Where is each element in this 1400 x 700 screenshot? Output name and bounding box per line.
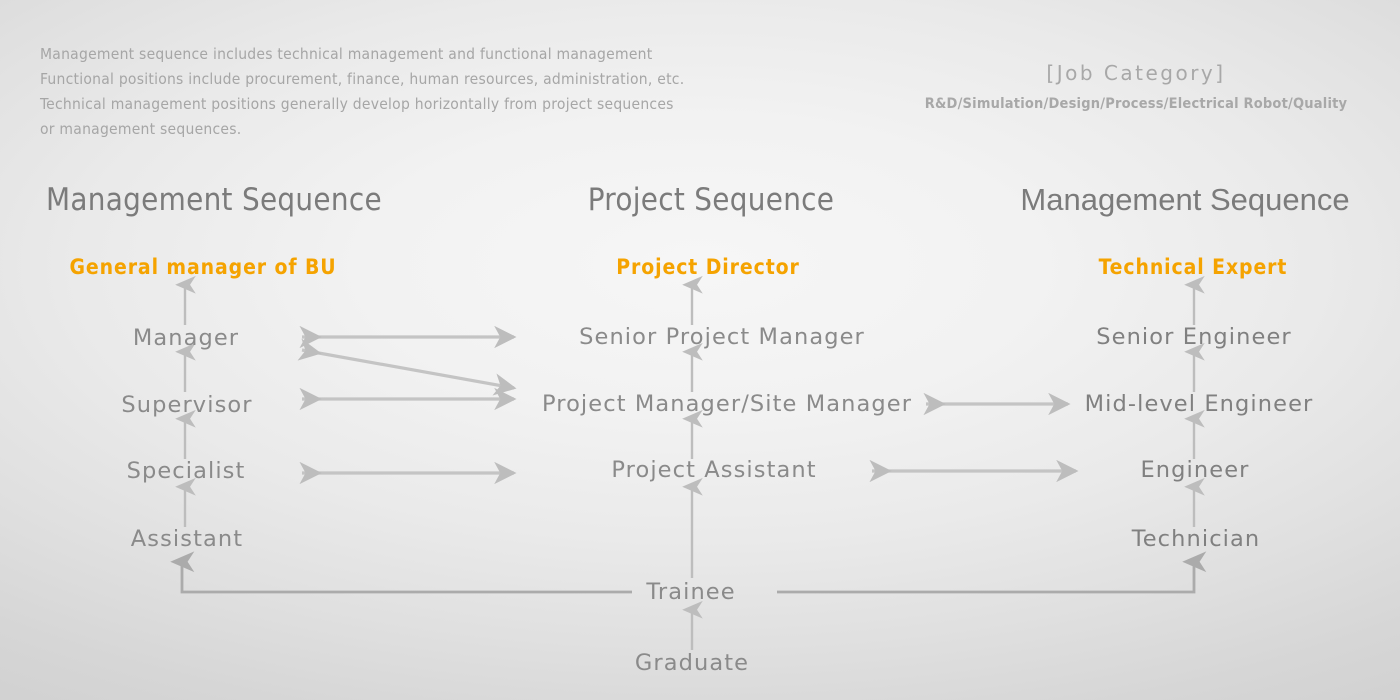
lateral-manager-project-manager	[302, 350, 514, 388]
job-category-block: [Job Category] R&D/Simulation/Design/Pro…	[886, 60, 1386, 116]
node-supervisor[interactable]: Supervisor	[121, 392, 252, 418]
node-technician[interactable]: Technician	[1132, 526, 1261, 552]
node-engineer[interactable]: Engineer	[1140, 457, 1249, 483]
note-line-2: Functional positions include procurement…	[40, 67, 860, 92]
node-project-director[interactable]: Project Director	[616, 254, 799, 280]
note-line-1: Management sequence includes technical m…	[40, 42, 860, 67]
node-senior-engineer[interactable]: Senior Engineer	[1096, 324, 1292, 350]
trainee-to-technician-connector	[777, 562, 1194, 592]
node-graduate[interactable]: Graduate	[635, 650, 749, 676]
trainee-to-assistant-connector	[182, 562, 632, 592]
node-project-manager-site-manager[interactable]: Project Manager/Site Manager	[542, 391, 912, 417]
node-senior-project-manager[interactable]: Senior Project Manager	[579, 324, 865, 350]
job-category-title: [Job Category]	[886, 60, 1386, 86]
node-trainee[interactable]: Trainee	[646, 579, 735, 605]
career-path-diagram: Management sequence includes technical m…	[0, 0, 1400, 700]
node-general-manager-of-bu[interactable]: General manager of BU	[70, 254, 337, 280]
node-technical-expert[interactable]: Technical Expert	[1099, 254, 1288, 280]
column-heading-management-sequence-left: Management Sequence	[46, 182, 382, 218]
column-heading-project-sequence: Project Sequence	[588, 182, 835, 218]
lateral-arrows-left-middle	[302, 337, 514, 473]
column-heading-management-sequence-right: Management Sequence	[1020, 182, 1349, 218]
node-manager[interactable]: Manager	[133, 325, 239, 351]
node-mid-level-engineer[interactable]: Mid-level Engineer	[1085, 391, 1314, 417]
node-assistant[interactable]: Assistant	[131, 526, 243, 552]
note-line-3: Technical management positions generally…	[40, 92, 860, 117]
explanatory-note: Management sequence includes technical m…	[40, 42, 860, 142]
job-category-list: R&D/Simulation/Design/Process/Electrical…	[886, 92, 1386, 116]
node-specialist[interactable]: Specialist	[127, 458, 246, 484]
note-line-4: or management sequences.	[40, 117, 860, 142]
node-project-assistant[interactable]: Project Assistant	[611, 457, 816, 483]
